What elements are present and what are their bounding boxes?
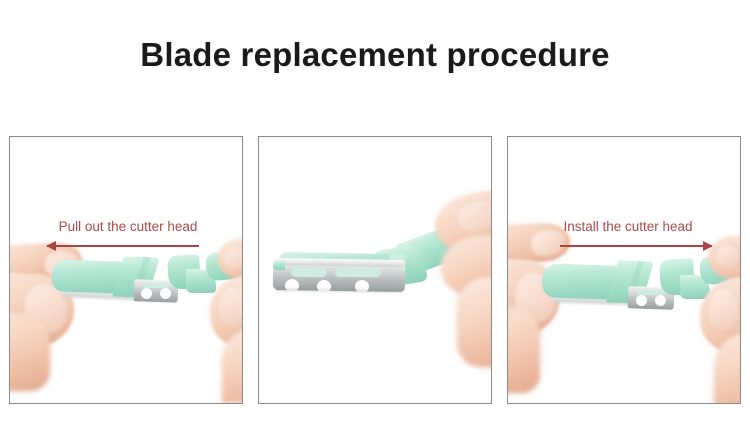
arrow-install (560, 239, 712, 253)
right-hand-index-nail (222, 245, 243, 271)
blade-clip-notch-left (636, 295, 647, 306)
poster-root: Blade replacement procedure (0, 0, 750, 425)
blade-cutting-edge (275, 288, 401, 293)
blade-tip-hook (273, 261, 285, 270)
right-hand-index-nail (714, 243, 741, 269)
blade-clip-notch-right (160, 288, 171, 299)
hand-body (457, 277, 492, 367)
illustration-install (508, 137, 740, 403)
panel-blade-exposed[interactable] (258, 136, 492, 404)
panel-pull-out[interactable]: Pull out the cutter head (9, 136, 243, 404)
caption-pull-out: Pull out the cutter head (12, 219, 243, 234)
blade-slot-right (335, 268, 381, 278)
arrow-head-left-icon (46, 241, 56, 251)
arrow-line (47, 245, 199, 247)
page-title: Blade replacement procedure (0, 36, 750, 74)
blade-slot-left (291, 268, 327, 278)
left-hand-palm (9, 313, 50, 391)
arrow-line (560, 245, 712, 247)
left-hand-palm (507, 307, 540, 393)
caption-install: Install the cutter head (512, 219, 741, 234)
blade-clip-notch-left (141, 288, 152, 299)
blade-clip-slot (638, 290, 664, 295)
illustration-blade-exposed (259, 137, 491, 403)
panel-install[interactable]: Install the cutter head (507, 136, 741, 404)
blade-clip-slot (143, 283, 169, 288)
blade-clip-notch-right (655, 295, 666, 306)
arrow-head-right-icon (703, 241, 713, 251)
arrow-pull-out (47, 239, 199, 253)
panel-row: Pull out the cutter head (9, 136, 741, 404)
illustration-pull-out (10, 137, 242, 403)
